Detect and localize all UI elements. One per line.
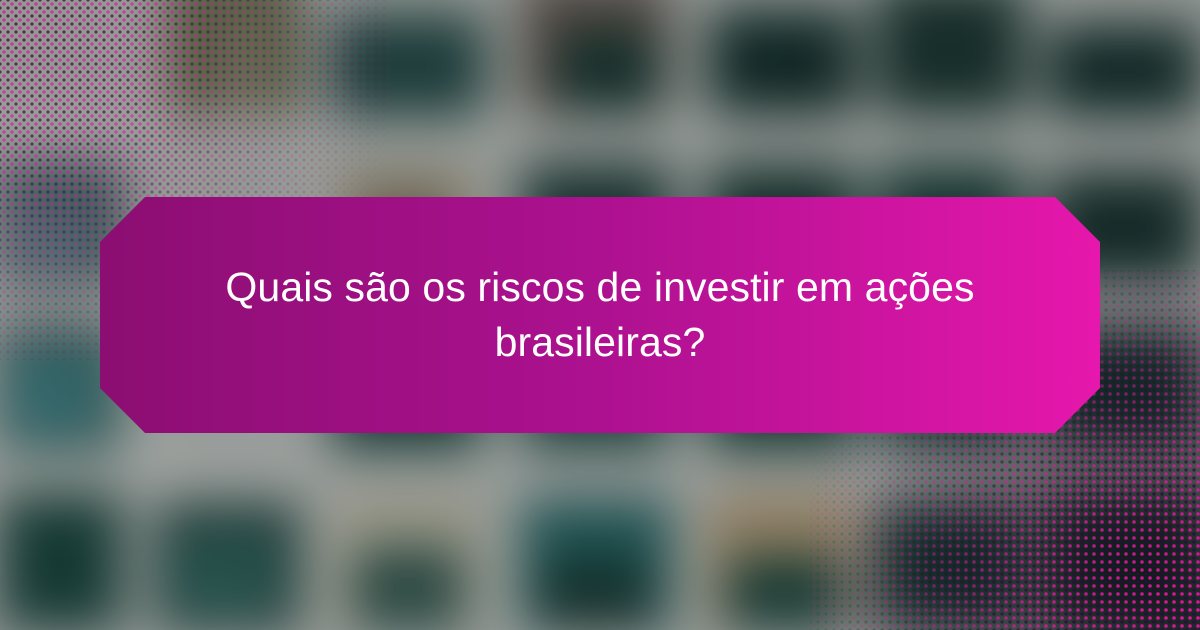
headline-banner: Quais são os riscos de investir em ações…: [100, 197, 1100, 433]
page-title: Quais são os riscos de investir em ações…: [135, 260, 1065, 370]
social-share-card: Quais são os riscos de investir em ações…: [0, 0, 1200, 630]
